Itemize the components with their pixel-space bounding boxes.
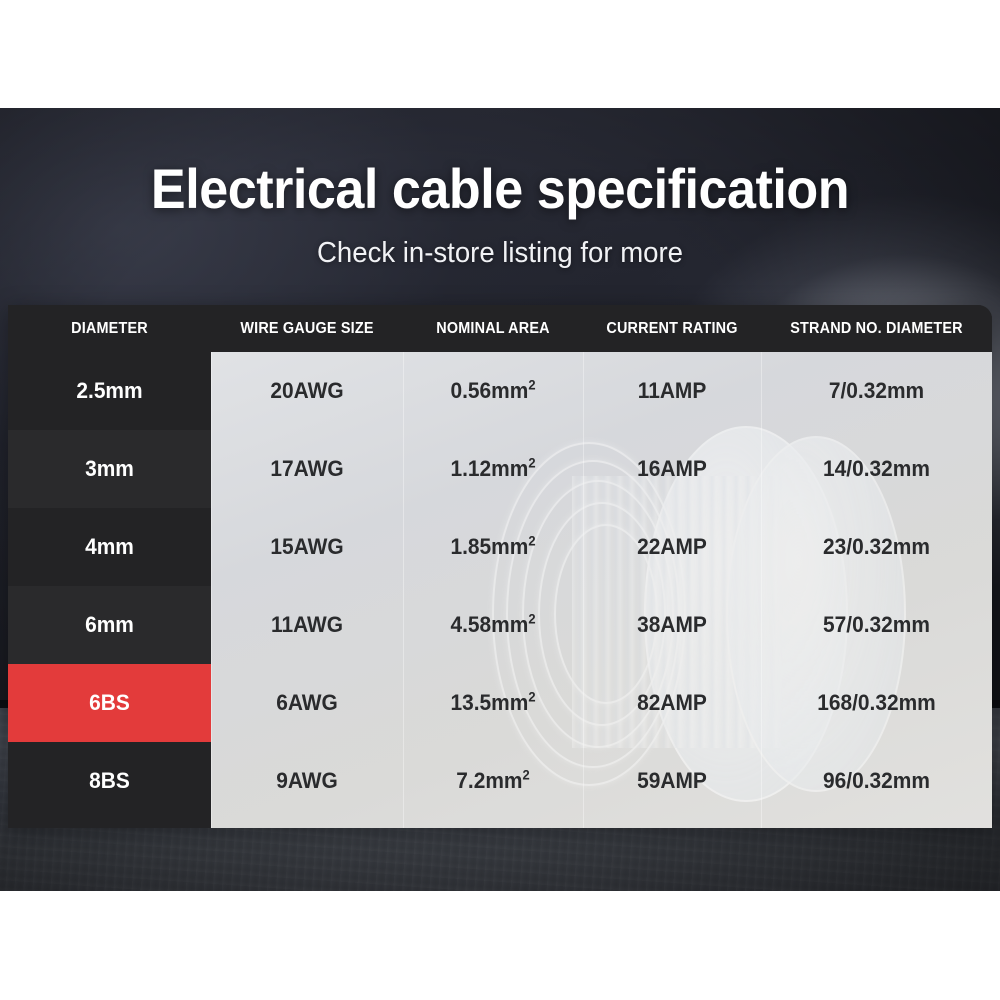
column-header-nominal-area: NOMINAL AREA — [409, 320, 576, 338]
cell-current-rating: 38AMP — [587, 612, 756, 638]
cell-diameter: 4mm — [13, 534, 206, 560]
table-row[interactable]: 8BS 9AWG 7.2mm2 59AMP 96/0.32mm — [8, 742, 992, 820]
cell-wire-gauge-size: 15AWG — [216, 534, 398, 560]
column-header-current-rating: CURRENT RATING — [589, 320, 755, 338]
cell-nominal-area: 0.56mm2 — [408, 378, 579, 404]
cell-nominal-area-value: 13.5mm — [450, 690, 528, 715]
cell-nominal-area-value: 4.58mm — [450, 612, 528, 637]
cell-wire-gauge-size: 6AWG — [216, 690, 398, 716]
cell-diameter: 6mm — [13, 612, 206, 638]
cell-diameter: 2.5mm — [13, 378, 206, 404]
cell-nominal-area-exponent: 2 — [523, 768, 530, 783]
spec-table: DIAMETER WIRE GAUGE SIZE NOMINAL AREA CU… — [8, 305, 992, 828]
table-row[interactable]: 4mm 15AWG 1.85mm2 22AMP 23/0.32mm — [8, 508, 992, 586]
page-title: Electrical cable specification — [35, 160, 965, 219]
cell-current-rating: 22AMP — [587, 534, 756, 560]
cell-diameter: 3mm — [13, 456, 206, 482]
cell-diameter: 6BS — [13, 690, 206, 716]
table-row[interactable]: 2.5mm 20AWG 0.56mm2 11AMP 7/0.32mm — [8, 352, 992, 430]
cell-wire-gauge-size: 20AWG — [216, 378, 398, 404]
cell-strand-no-diameter: 96/0.32mm — [767, 768, 986, 794]
table-row[interactable]: 6mm 11AWG 4.58mm2 38AMP 57/0.32mm — [8, 586, 992, 664]
cell-nominal-area-value: 1.12mm — [450, 456, 528, 481]
page-subtitle: Check in-store listing for more — [25, 237, 975, 270]
table-row-highlighted[interactable]: 6BS 6AWG 13.5mm2 82AMP 168/0.32mm — [8, 664, 992, 742]
cell-current-rating: 11AMP — [587, 378, 756, 404]
cell-diameter: 8BS — [13, 768, 206, 794]
table-row[interactable]: 3mm 17AWG 1.12mm2 16AMP 14/0.32mm — [8, 430, 992, 508]
cell-nominal-area-exponent: 2 — [528, 612, 535, 627]
cell-strand-no-diameter: 23/0.32mm — [767, 534, 986, 560]
cell-strand-no-diameter: 14/0.32mm — [767, 456, 986, 482]
column-header-strand-no-diameter: STRAND NO. DIAMETER — [769, 320, 984, 338]
product-infographic: Electrical cable specification Check in-… — [0, 0, 1000, 1000]
cell-nominal-area-exponent: 2 — [528, 456, 535, 471]
cell-strand-no-diameter: 168/0.32mm — [767, 690, 986, 716]
cell-nominal-area-value: 1.85mm — [450, 534, 528, 559]
cell-nominal-area-exponent: 2 — [528, 378, 535, 393]
cell-current-rating: 82AMP — [587, 690, 756, 716]
cell-nominal-area: 4.58mm2 — [408, 612, 579, 638]
cell-wire-gauge-size: 17AWG — [216, 456, 398, 482]
cell-nominal-area-exponent: 2 — [528, 534, 535, 549]
cell-strand-no-diameter: 7/0.32mm — [767, 378, 986, 404]
cell-wire-gauge-size: 9AWG — [216, 768, 398, 794]
cell-wire-gauge-size: 11AWG — [216, 612, 398, 638]
cell-nominal-area-value: 7.2mm — [456, 768, 522, 793]
cell-nominal-area-exponent: 2 — [528, 690, 535, 705]
cell-nominal-area: 1.12mm2 — [408, 456, 579, 482]
cell-nominal-area-value: 0.56mm — [450, 378, 528, 403]
table-header-row: DIAMETER WIRE GAUGE SIZE NOMINAL AREA CU… — [8, 305, 992, 352]
cell-nominal-area: 7.2mm2 — [408, 768, 579, 794]
cell-strand-no-diameter: 57/0.32mm — [767, 612, 986, 638]
column-header-diameter: DIAMETER — [15, 320, 204, 338]
cell-current-rating: 59AMP — [587, 768, 756, 794]
cell-nominal-area: 13.5mm2 — [408, 690, 579, 716]
cell-nominal-area: 1.85mm2 — [408, 534, 579, 560]
column-header-wire-gauge-size: WIRE GAUGE SIZE — [218, 320, 397, 338]
cell-current-rating: 16AMP — [587, 456, 756, 482]
